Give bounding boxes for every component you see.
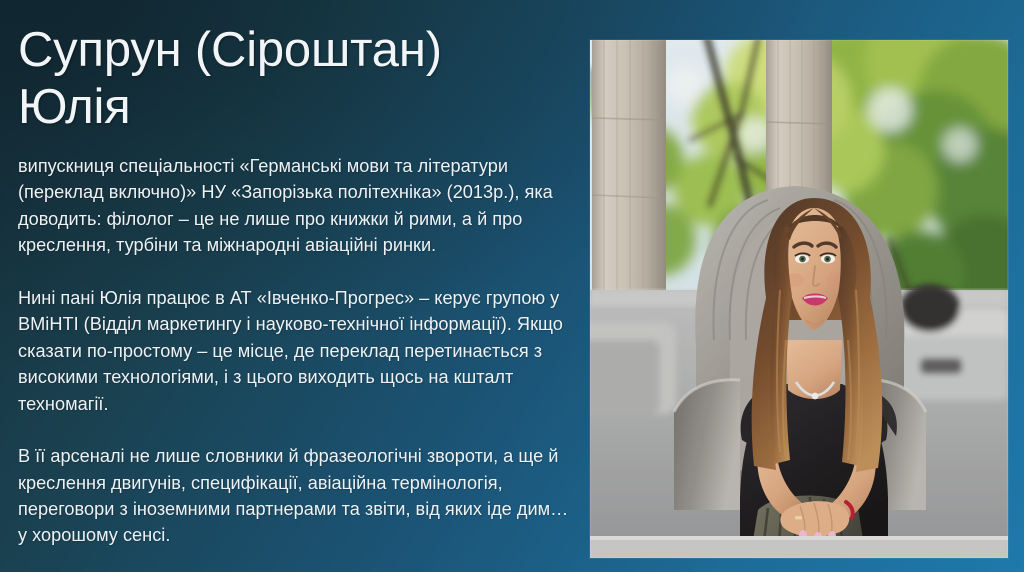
paragraph-skills: В її арсеналі не лише словники й фразеол… bbox=[18, 443, 570, 549]
paragraph-education: випускниця спеціальності «Германські мов… bbox=[18, 153, 570, 259]
presentation-slide: Супрун (Сіроштан) Юлія випускниця спеціа… bbox=[0, 0, 1024, 572]
paragraph-current-work: Нині пані Юлія працює в АТ «Івченко-Прог… bbox=[18, 285, 570, 417]
portrait-photo bbox=[590, 40, 1008, 558]
slide-body-text: випускниця спеціальності «Германські мов… bbox=[18, 153, 570, 549]
slide-text-column: Супрун (Сіроштан) Юлія випускниця спеціа… bbox=[18, 22, 570, 549]
page-title: Супрун (Сіроштан) Юлія bbox=[18, 22, 570, 137]
portrait-photo-illustration bbox=[590, 40, 1008, 558]
